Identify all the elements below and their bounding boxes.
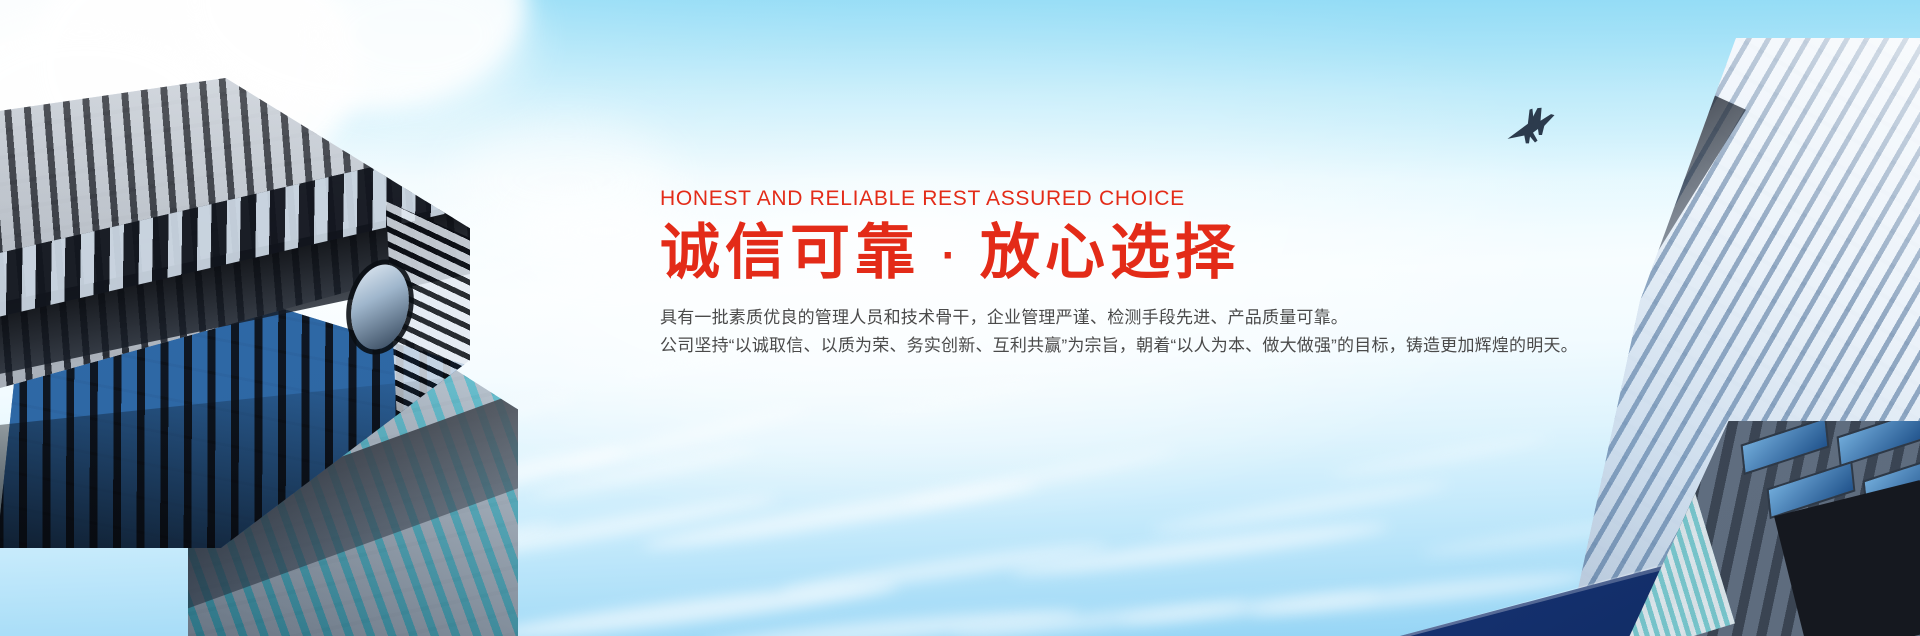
headline-part-right: 放心选择	[980, 219, 1240, 286]
headline-separator-dot: ·	[942, 231, 959, 280]
hero-banner: HONEST AND RELIABLE REST ASSURED CHOICE …	[0, 0, 1920, 636]
banner-headline: 诚信可靠 · 放心选择	[660, 220, 1480, 286]
banner-body-line-2: 公司坚持“以诚取信、以质为荣、务实创新、互利共赢”为宗旨，朝着“以人为本、做大做…	[660, 332, 1480, 360]
headline-part-left: 诚信可靠	[660, 219, 920, 286]
banner-eyebrow-english: HONEST AND RELIABLE REST ASSURED CHOICE	[660, 186, 1480, 212]
banner-copy-block: HONEST AND RELIABLE REST ASSURED CHOICE …	[660, 186, 1480, 359]
banner-body-line-1: 具有一批素质优良的管理人员和技术骨干，企业管理严谨、检测手段先进、产品质量可靠。	[660, 304, 1480, 332]
